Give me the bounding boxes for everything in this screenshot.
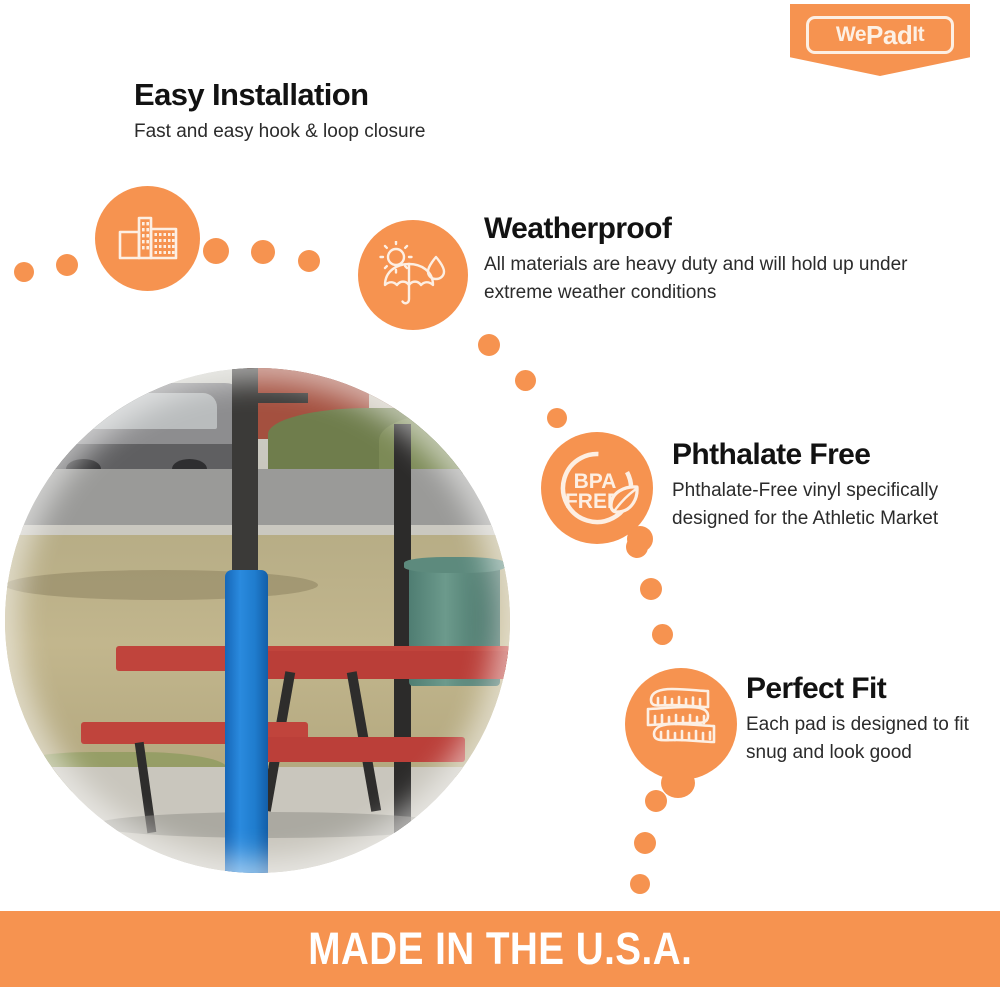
trail-dot [56,254,78,276]
photo-vignette [5,368,510,873]
feature-weatherproof: Weatherproof All materials are heavy dut… [484,212,914,306]
feature-description: Fast and easy hook & loop closure [134,118,554,146]
feature-perfect-fit: Perfect Fit Each pad is designed to fit … [746,672,986,766]
trail-dot [478,334,500,356]
feature-easy-installation: Easy Installation Fast and easy hook & l… [134,78,554,146]
feature-title: Perfect Fit [746,672,986,705]
tape-measure-icon [638,682,724,766]
logo-text-it: It [912,23,924,47]
infographic-canvas: WePadIt [0,0,1000,987]
trail-dot [251,240,275,264]
trail-dot [634,832,656,854]
feature-description: All materials are heavy duty and will ho… [484,251,914,306]
icon-badge-easy-installation [95,186,200,291]
logo-outline-box: WePadIt [806,16,954,54]
icon-badge-phthalate-free: BPA FREE [541,432,653,544]
made-in-usa-banner: MADE IN THE U.S.A. [0,911,1000,987]
brand-logo[interactable]: WePadIt [790,4,970,76]
feature-title: Easy Installation [134,78,554,112]
umbrella-sun-raindrop-icon [376,241,450,309]
feature-description: Phthalate-Free vinyl specifically design… [672,477,972,532]
feature-phthalate-free: Phthalate Free Phthalate-Free vinyl spec… [672,438,972,532]
trail-dot [298,250,320,272]
feature-title: Phthalate Free [672,438,972,471]
icon-badge-perfect-fit [625,668,737,780]
trail-dot [630,874,650,894]
trail-dot [203,238,229,264]
badge-blob-dot [661,768,695,798]
trail-dot [645,790,667,812]
product-photo [5,368,510,873]
made-in-usa-text: MADE IN THE U.S.A. [308,923,692,975]
logo-text-we: We [836,23,866,47]
trail-dot [547,408,567,428]
icon-badge-weatherproof [358,220,468,330]
badge-blob-dot [627,526,653,552]
trail-dot [640,578,662,600]
trail-dot [652,624,673,645]
trail-dot [14,262,34,282]
bpa-free-leaf-icon: BPA FREE [549,440,645,536]
trail-dot [515,370,536,391]
building-icon [117,213,179,265]
feature-title: Weatherproof [484,212,914,245]
logo-text-pad: Pad [866,20,912,51]
feature-description: Each pad is designed to fit snug and loo… [746,711,986,766]
